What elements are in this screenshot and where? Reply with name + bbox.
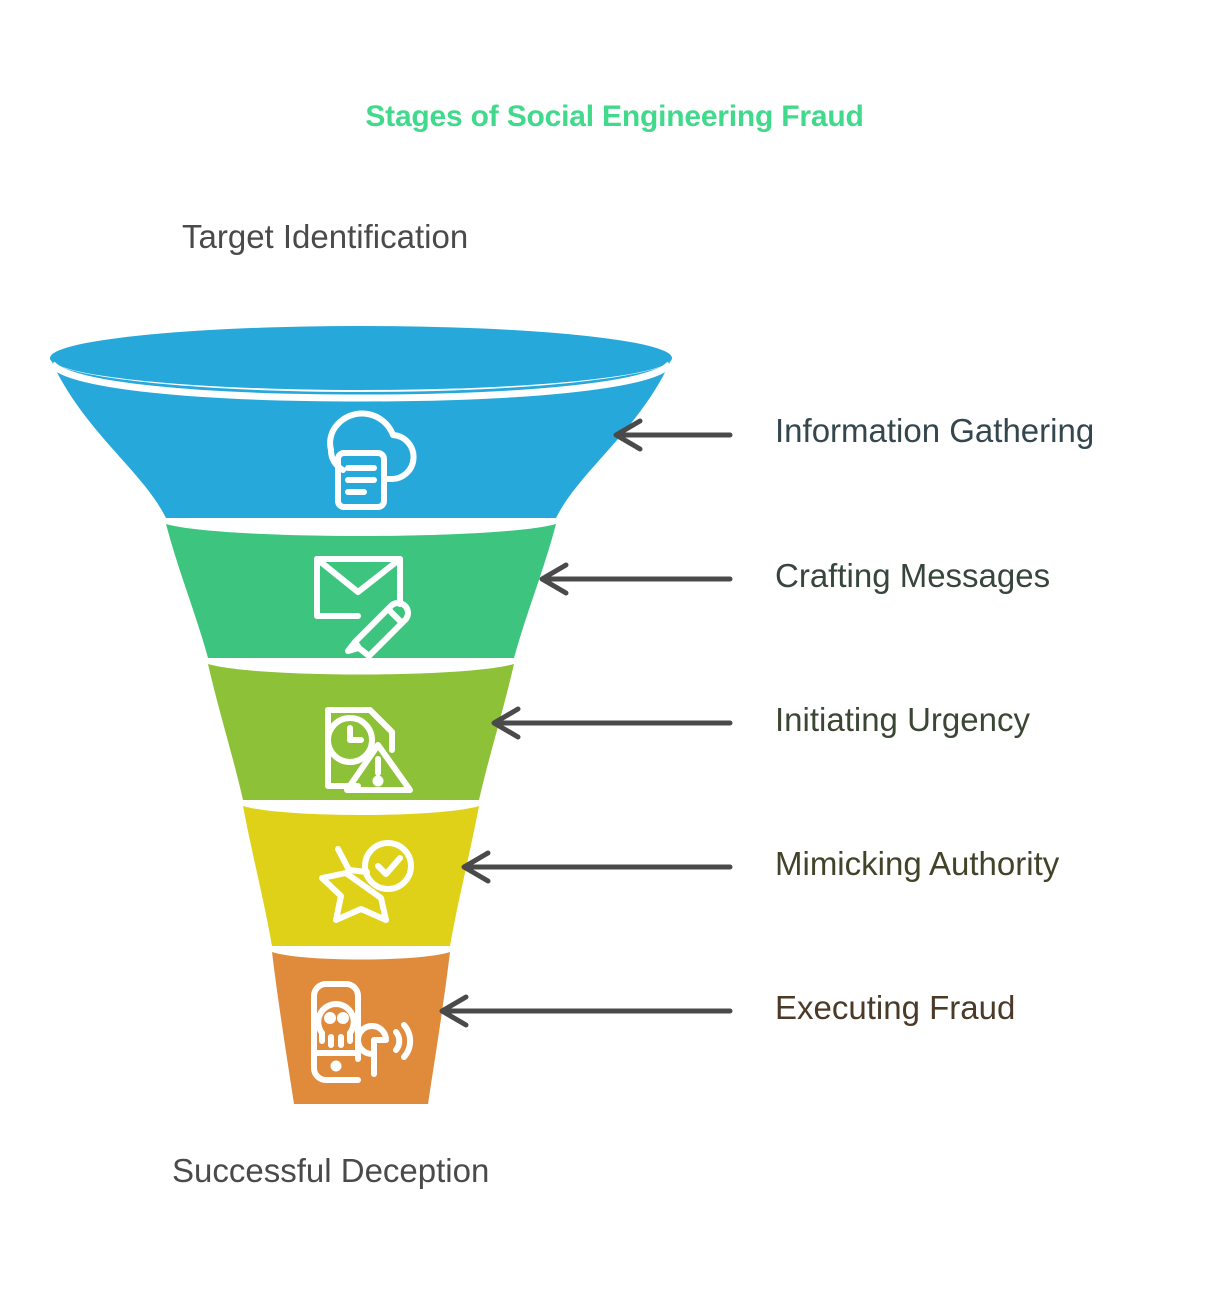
arrow-stage-5 xyxy=(442,997,730,1025)
stage-label-initiating-urgency[interactable]: Initiating Urgency xyxy=(775,701,1030,739)
stage-label-executing-fraud[interactable]: Executing Fraud xyxy=(775,989,1015,1027)
stage-label-mimicking-authority[interactable]: Mimicking Authority xyxy=(775,845,1059,883)
stage-label-information-gathering[interactable]: Information Gathering xyxy=(775,412,1094,450)
funnel-diagram-canvas: Stages of Social Engineering Fraud Targe… xyxy=(0,0,1229,1300)
stage-label-crafting-messages[interactable]: Crafting Messages xyxy=(775,557,1050,595)
arrow-stage-2 xyxy=(542,565,730,593)
arrow-connectors xyxy=(0,0,1229,1300)
funnel-exit-caption: Successful Deception xyxy=(172,1152,489,1190)
arrow-stage-1 xyxy=(616,421,730,449)
arrow-stage-3 xyxy=(494,709,730,737)
arrow-stage-4 xyxy=(464,853,730,881)
